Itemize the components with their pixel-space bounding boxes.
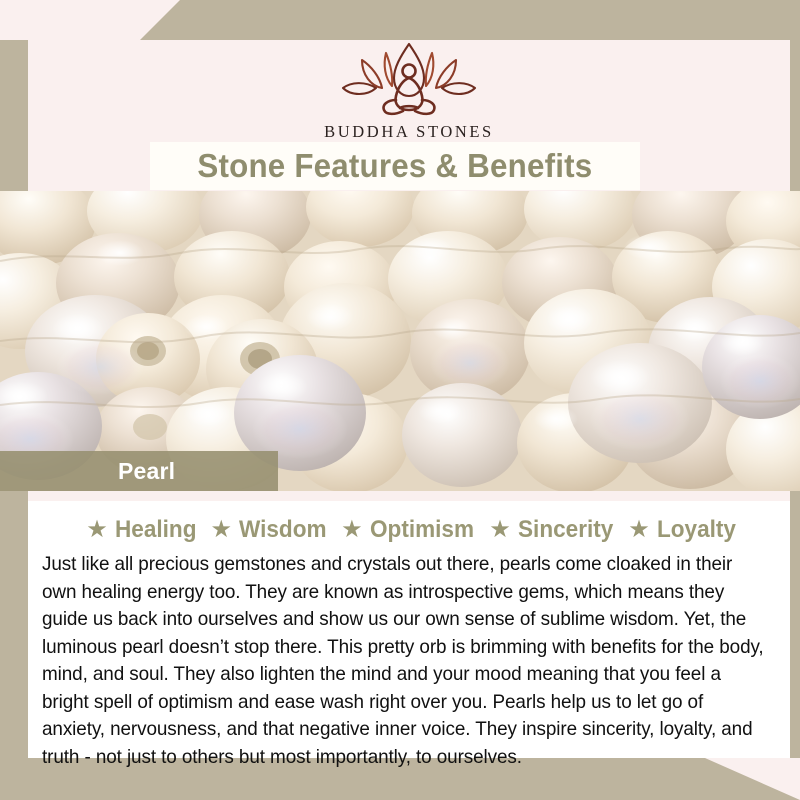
star-icon: ★ bbox=[210, 518, 232, 542]
stone-name-bar: Pearl bbox=[0, 451, 278, 491]
stone-name: Pearl bbox=[118, 458, 175, 485]
frame-band-top bbox=[140, 0, 800, 40]
star-icon: ★ bbox=[341, 518, 363, 542]
brand-wordmark: BUDDHA STONES bbox=[324, 122, 494, 142]
benefits-list: ★ Healing ★ Wisdom ★ Optimism ★ Sincerit… bbox=[42, 513, 776, 547]
star-icon: ★ bbox=[628, 518, 650, 542]
benefit-label: Healing bbox=[115, 516, 196, 544]
title-banner: Stone Features & Benefits bbox=[150, 142, 640, 190]
benefit-label: Sincerity bbox=[518, 516, 613, 544]
benefit-item: ★ Optimism bbox=[332, 516, 480, 544]
brand-logo: BUDDHA STONES bbox=[28, 40, 790, 148]
poster-root: BUDDHA STONES Stone Features & Benefits bbox=[0, 0, 800, 800]
benefit-label: Loyalty bbox=[657, 516, 736, 544]
star-icon: ★ bbox=[489, 518, 511, 542]
benefit-item: ★ Healing bbox=[77, 516, 201, 544]
benefit-item: ★ Sincerity bbox=[480, 516, 619, 544]
benefit-label: Optimism bbox=[370, 516, 474, 544]
page-title: Stone Features & Benefits bbox=[198, 147, 593, 185]
pearl-photo bbox=[0, 191, 800, 491]
page-surface: BUDDHA STONES Stone Features & Benefits bbox=[28, 40, 790, 758]
benefit-item: ★ Loyalty bbox=[619, 516, 741, 544]
benefit-item: ★ Wisdom bbox=[201, 516, 332, 544]
content-panel: ★ Healing ★ Wisdom ★ Optimism ★ Sincerit… bbox=[28, 501, 790, 758]
benefit-label: Wisdom bbox=[239, 516, 327, 544]
star-icon: ★ bbox=[86, 518, 108, 542]
lotus-meditation-icon bbox=[334, 40, 484, 120]
description-paragraph: Just like all precious gemstones and cry… bbox=[42, 551, 765, 771]
hero-image bbox=[0, 191, 800, 491]
